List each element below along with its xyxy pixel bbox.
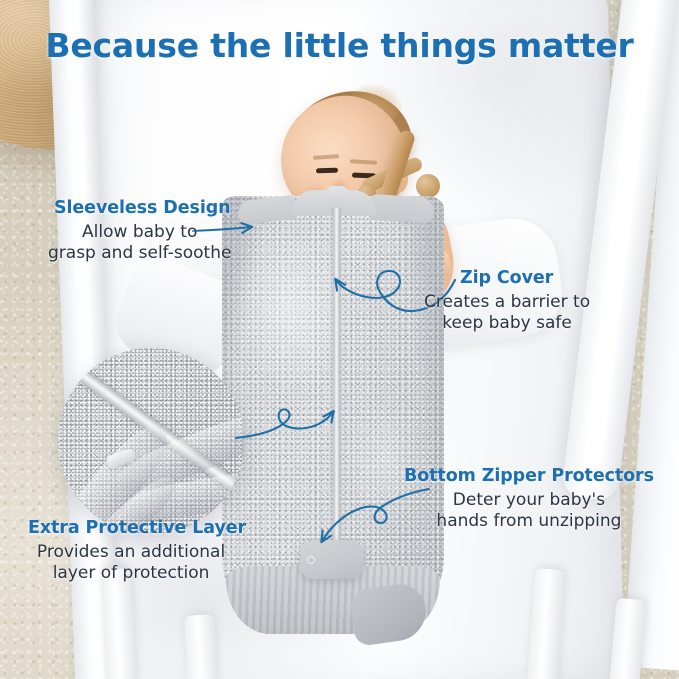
baby-eye-left — [316, 168, 338, 174]
sleep-sack-shoulder-right — [369, 194, 435, 224]
annotation-title: Sleeveless Design — [48, 198, 231, 218]
annotation-body-line: Deter your baby's — [404, 490, 654, 511]
zip-cover-flap — [326, 186, 348, 208]
annotation-body-line: keep baby safe — [424, 313, 590, 334]
fabric-detail-inset — [58, 348, 244, 534]
annotation-body-line: grasp and self-soothe — [48, 243, 231, 264]
annotation-title: Extra Protective Layer — [16, 518, 246, 538]
infographic-canvas: Because the little things matter Sleevel… — [0, 0, 679, 679]
annotation-body-line: Creates a barrier to — [424, 292, 590, 313]
annotation-body-line: Provides an additional — [16, 542, 246, 563]
annotation-title: Bottom Zipper Protectors — [404, 466, 654, 486]
annotation-extra-protective-layer: Extra Protective Layer Provides an addit… — [16, 518, 246, 583]
annotation-sleeveless-design: Sleeveless Design Allow baby to grasp an… — [48, 198, 231, 263]
annotation-body-line: layer of protection — [16, 563, 246, 584]
annotation-body: Deter your baby's hands from unzipping — [404, 490, 654, 531]
annotation-zip-cover: Zip Cover Creates a barrier to keep baby… — [424, 268, 590, 333]
annotation-body: Creates a barrier to keep baby safe — [424, 292, 590, 333]
annotation-body-line: Allow baby to — [48, 222, 231, 243]
annotation-title: Zip Cover — [424, 268, 590, 288]
wooden-toy-bead-large — [416, 174, 440, 198]
front-zipper — [333, 198, 340, 598]
annotation-body: Allow baby to grasp and self-soothe — [48, 222, 231, 263]
annotation-body-line: hands from unzipping — [404, 511, 654, 532]
headline: Because the little things matter — [0, 26, 679, 65]
bottom-zipper-protector-flap — [300, 540, 364, 579]
annotation-body: Provides an additional layer of protecti… — [16, 542, 246, 583]
annotation-bottom-zipper-protectors: Bottom Zipper Protectors Deter your baby… — [404, 466, 654, 531]
